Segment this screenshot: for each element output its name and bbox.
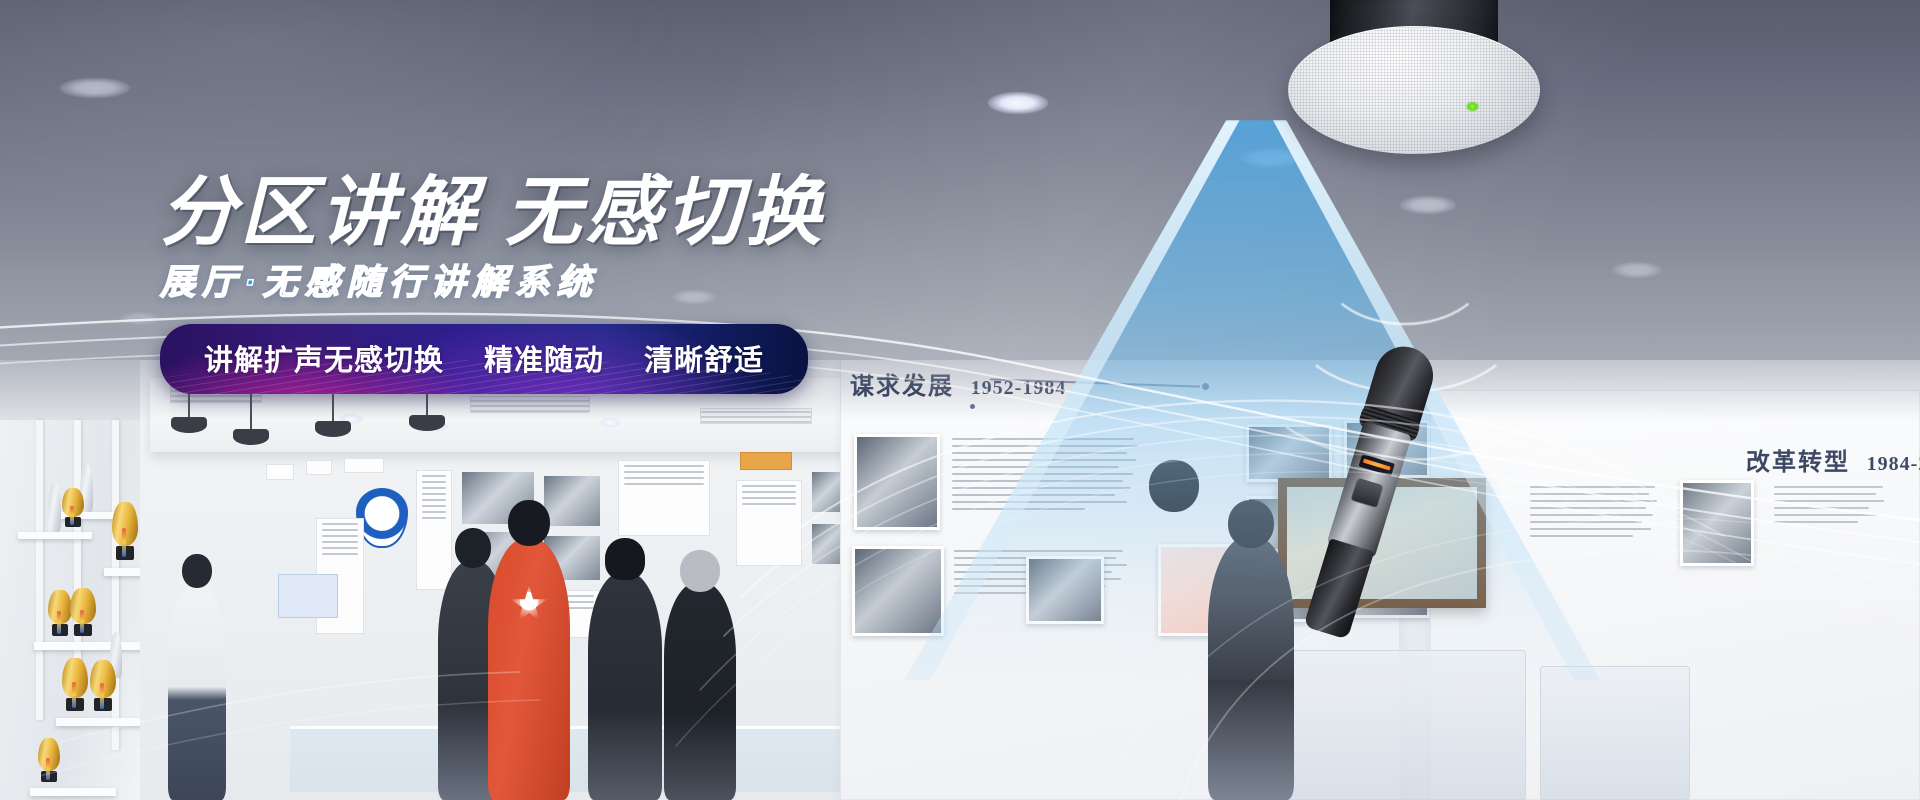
visitor-figure [664,582,736,800]
feature-item-2: 精准随动 [484,337,604,379]
vest-logo [510,586,548,624]
visitor-head [680,550,720,592]
visitor-head-with-cap [605,538,645,580]
ceiling-downlight-icon [1612,262,1662,278]
feature-item-1: 讲解扩声无感切换 [204,337,444,379]
trophy-icon [38,738,60,788]
ceiling-downlight-icon [60,78,130,98]
ceiling-speaker-icon [1288,0,1540,172]
trophy-icon [112,502,138,568]
center-hall [140,360,940,800]
visitor-head [182,554,212,588]
visitor-figure [588,572,662,800]
trophy-icon [62,658,88,718]
ceiling-downlight-icon [120,312,160,325]
exhibition-hall-photo: 谋求发展 1952-1984 改革转型 [0,360,1920,800]
visitor-head [455,528,491,568]
trophy-icon [48,590,72,642]
feature-item-3: 清晰舒适 [644,337,764,379]
visitor-head [508,500,550,546]
headline-block: 分区讲解 无感切换 展厅·无感随行讲解系统 讲解扩声无感切换 精准随动 清晰舒适 [160,175,1140,399]
trophy-icon [62,488,84,532]
page-subtitle: 展厅·无感随行讲解系统 [160,265,1140,300]
microphone-battery-cap [1303,538,1374,639]
feature-pill[interactable]: 讲解扩声无感切换 精准随动 清晰舒适 [160,324,808,394]
speaker-status-led [1466,102,1479,111]
banner-root: 谋求发展 1952-1984 改革转型 [0,0,1920,800]
visitor-figure [168,582,226,800]
speaker-grille [1288,26,1540,154]
ceiling-downlight-icon [988,92,1048,114]
page-title: 分区讲解 无感切换 [160,175,1140,251]
feature-pill-items: 讲解扩声无感切换 精准随动 清晰舒适 [204,337,764,379]
visitor-figure-red-vest [488,538,570,800]
trophy-icon [70,588,96,642]
trophy-icon [90,660,116,718]
